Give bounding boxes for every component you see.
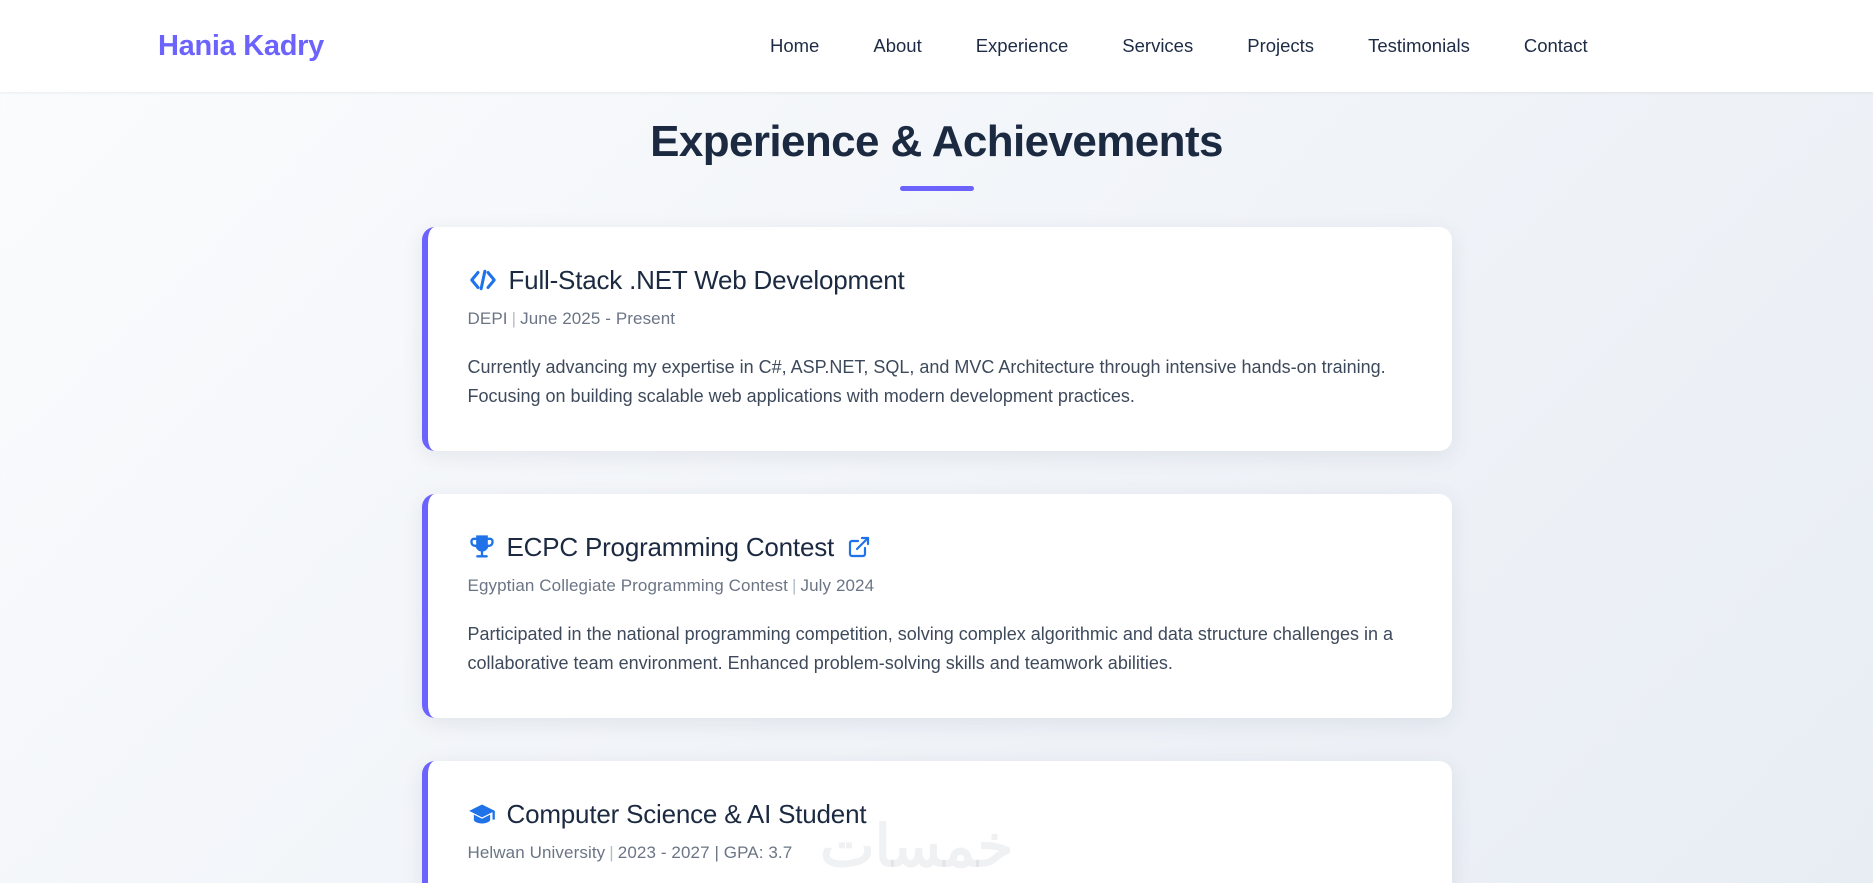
nav-link-projects[interactable]: Projects <box>1247 29 1314 63</box>
top-navbar: Hania Kadry Home About Experience Servic… <box>0 0 1873 92</box>
site-logo[interactable]: Hania Kadry <box>158 30 324 63</box>
card-period: July 2024 <box>800 576 874 595</box>
trophy-icon <box>468 533 496 561</box>
nav-link-about[interactable]: About <box>873 29 921 63</box>
code-icon <box>468 265 498 295</box>
card-org: DEPI <box>468 309 508 328</box>
title-underline-accent <box>900 186 974 191</box>
card-header: ECPC Programming Contest <box>468 532 1410 563</box>
card-title: ECPC Programming Contest <box>507 532 835 563</box>
card-period: June 2025 - Present <box>520 309 675 328</box>
external-link-icon[interactable] <box>847 535 871 559</box>
card-period: 2023 - 2027 | GPA: 3.7 <box>618 843 793 862</box>
experience-card[interactable]: ECPC Programming Contest Egyptian Colleg… <box>422 494 1452 718</box>
page-title: Experience & Achievements <box>0 117 1873 168</box>
card-separator: | <box>788 576 801 595</box>
card-description: Currently advancing my expertise in C#, … <box>468 353 1410 411</box>
card-org: Egyptian Collegiate Programming Contest <box>468 576 788 595</box>
nav-link-testimonials[interactable]: Testimonials <box>1368 29 1470 63</box>
card-description: Participated in the national programming… <box>468 620 1410 678</box>
experience-card[interactable]: Full-Stack .NET Web Development DEPI|Jun… <box>422 227 1452 451</box>
nav-link-contact[interactable]: Contact <box>1524 29 1588 63</box>
primary-navigation: Home About Experience Services Projects … <box>770 29 1588 63</box>
graduation-cap-icon <box>468 801 496 829</box>
experience-card-list: Full-Stack .NET Web Development DEPI|Jun… <box>422 227 1452 883</box>
nav-link-home[interactable]: Home <box>770 29 819 63</box>
card-subtitle: Egyptian Collegiate Programming Contest|… <box>468 576 1410 596</box>
card-header: Computer Science & AI Student <box>468 799 1410 830</box>
nav-link-experience[interactable]: Experience <box>976 29 1069 63</box>
card-separator: | <box>605 843 618 862</box>
card-org: Helwan University <box>468 843 606 862</box>
card-header: Full-Stack .NET Web Development <box>468 265 1410 296</box>
nav-link-services[interactable]: Services <box>1122 29 1193 63</box>
card-subtitle: DEPI|June 2025 - Present <box>468 309 1410 329</box>
card-title: Computer Science & AI Student <box>507 799 867 830</box>
experience-section: Experience & Achievements Full-Stack .NE… <box>0 117 1873 883</box>
card-subtitle: Helwan University|2023 - 2027 | GPA: 3.7 <box>468 843 1410 863</box>
card-title: Full-Stack .NET Web Development <box>509 265 905 296</box>
card-separator: | <box>508 309 521 328</box>
experience-card[interactable]: Computer Science & AI Student Helwan Uni… <box>422 761 1452 883</box>
